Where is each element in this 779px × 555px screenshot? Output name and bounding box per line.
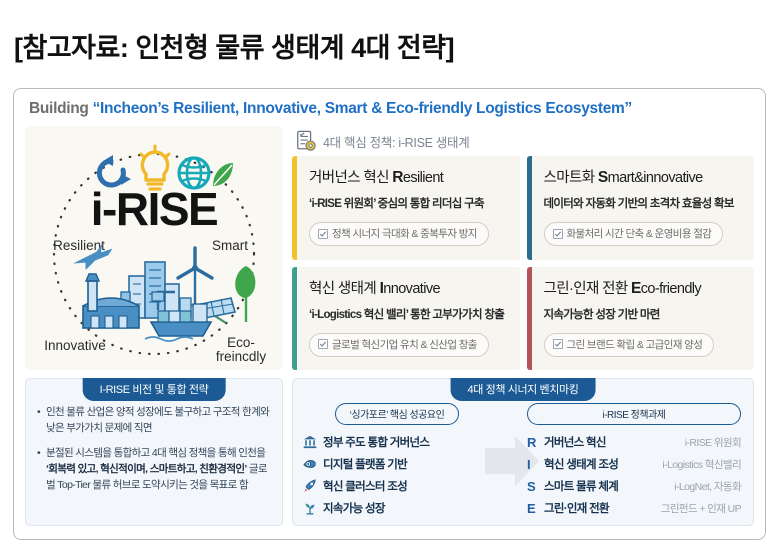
vision-bullet-emphasis: ‘회복력 있고, 혁신적이며, 스마트하고, 친환경적인’ [46, 463, 247, 475]
policy-card-title: 스마트화 Smart&innovative [544, 166, 745, 187]
benchmark-left-item: 혁신 클러스터 조성 [303, 475, 491, 497]
policy-card-badge: 그린 브랜드 확립 & 고급인재 양성 [544, 333, 715, 357]
policy-card-initial: E [631, 280, 641, 297]
benchmark-right-label: 혁신 생태계 조성 [544, 456, 618, 472]
benchmark-left-item: 지속가능 성장 [303, 497, 491, 519]
benchmark-right-note: i-Logistics 혁신밸리 [662, 457, 741, 472]
policy-card-ecofriendly[interactable]: 그린·인재 전환 Eco-friendly 지속가능한 성장 기반 마련 그린 … [527, 267, 755, 371]
headline-prefix: Building [29, 100, 93, 117]
benchmark-right-item: S 스마트 물류 체계 i-LogNet, 자동화 [527, 475, 741, 497]
checkbox-icon [318, 339, 328, 349]
benchmark-right-label: 거버넌스 혁신 [544, 434, 606, 450]
policy-card-subtitle: 지속가능한 성장 기반 마련 [544, 306, 745, 322]
irise-infographic: i-RISE Resilient Smart Innovative Eco- f… [25, 126, 283, 370]
bullet-dot: • [37, 445, 46, 494]
benchmark-left-item: 정부 주도 통합 거버넌스 [303, 431, 491, 453]
benchmark-right-column: i-RISE 정책과제 R 거버넌스 혁신 i-RISE 위원회 I 혁신 생태… [491, 403, 741, 525]
benchmark-right-note: i-RISE 위원회 [685, 435, 741, 450]
policy-card-smart[interactable]: 스마트화 Smart&innovative 데이터와 자동화 기반의 초격차 효… [527, 156, 755, 260]
policy-card-badge-text: 화물처리 시간 단축 & 운영비용 절감 [567, 226, 712, 241]
policy-card-badge: 정책 시너지 극대화 & 중복투자 방지 [309, 222, 489, 246]
vision-bullet-text: 인천 물류 산업은 양적 성장에도 불구하고 구조적 한계와 낮은 부가가치 문… [46, 404, 272, 437]
benchmark-right-note: 그린펀드 + 인재 UP [661, 501, 741, 516]
benchmark-panel: 4대 정책 시너지 벤치마킹 ‘싱가포르’ 핵심 성공요인 [292, 378, 754, 526]
policy-card-title: 거버넌스 혁신 Resilient [309, 166, 510, 187]
refresh-cycle-icon [99, 155, 131, 185]
document-gear-icon [295, 130, 317, 152]
checkbox-icon [318, 229, 328, 239]
policy-card-badge: 글로벌 혁신기업 유치 & 신산업 창출 [309, 333, 489, 357]
benchmark-right-label: 스마트 물류 체계 [544, 478, 618, 494]
benchmark-right-item: R 거버넌스 혁신 i-RISE 위원회 [527, 431, 741, 453]
benchmark-left-item: 디지털 플랫폼 기반 [303, 453, 491, 475]
policy-card-subtitle: ‘i-RISE 위원회’ 중심의 통합 리더십 구축 [309, 195, 510, 211]
vision-panel-header: I-RISE 비전 및 통합 전략 [83, 378, 226, 401]
upper-region: i-RISE Resilient Smart Innovative Eco- f… [25, 126, 754, 370]
bullet-dot: • [37, 404, 46, 437]
policy-area: 4대 핵심 정책: i-RISE 생태계 거버넌스 혁신 Resilient ‘… [292, 126, 754, 370]
policy-card-subtitle: 데이터와 자동화 기반의 초격차 효율성 확보 [544, 195, 745, 211]
policy-card-title: 그린·인재 전환 Eco-friendly [544, 277, 745, 298]
irise-logo-text: i-RISE [91, 183, 217, 235]
policy-section-header: 4대 핵심 정책: i-RISE 생태계 [292, 126, 754, 156]
benchmark-left-caption: ‘싱가포르’ 핵심 성공요인 [335, 403, 460, 425]
headline: Building “Incheon’s Resilient, Innovativ… [29, 100, 754, 118]
policy-card-badge-text: 글로벌 혁신기업 유치 & 신산업 창출 [332, 337, 477, 352]
policy-section-title: 4대 핵심 정책: i-RISE 생태계 [323, 132, 469, 151]
label-ecofriendly-1: Eco- [227, 335, 255, 350]
benchmark-right-caption: i-RISE 정책과제 [527, 403, 741, 425]
benchmark-body: ‘싱가포르’ 핵심 성공요인 정부 주도 통합 거버넌스 [293, 396, 753, 525]
label-innovative: Innovative [44, 338, 106, 353]
label-ecofriendly-2: freincdly [216, 349, 267, 364]
policy-card-initial: S [598, 169, 608, 186]
benchmark-right-item: E 그린·인재 전환 그린펀드 + 인재 UP [527, 497, 741, 519]
policy-card-badge-text: 그린 브랜드 확립 & 고급인재 양성 [567, 337, 703, 352]
benchmark-letter: S [527, 479, 544, 494]
policy-card-resilient[interactable]: 거버넌스 혁신 Resilient ‘i-RISE 위원회’ 중심의 통합 리더… [292, 156, 520, 260]
vision-bullet-text: 분절된 시스템을 통합하고 4대 핵심 정책을 통해 인천을 ‘회복력 있고, … [46, 445, 272, 494]
rocket-icon [303, 479, 323, 493]
infographic-panel: i-RISE Resilient Smart Innovative Eco- f… [25, 126, 283, 370]
label-smart: Smart [212, 238, 248, 253]
policy-card-title: 혁신 생태계 Innovative [309, 277, 510, 298]
page-title: [참고자료: 인천형 물류 생태계 4대 전략] [0, 0, 779, 65]
benchmark-right-label: 그린·인재 전환 [544, 500, 609, 516]
benchmark-letter: R [527, 435, 544, 450]
vision-bullet: • 인천 물류 산업은 양적 성장에도 불구하고 구조적 한계와 낮은 부가가치… [37, 404, 272, 437]
tree-icon [235, 266, 255, 322]
benchmark-right-note: i-LogNet, 자동화 [674, 479, 741, 494]
bank-building-icon [303, 435, 323, 449]
lower-region: I-RISE 비전 및 통합 전략 • 인천 물류 산업은 양적 성장에도 불구… [25, 378, 754, 526]
vision-bullet: • 분절된 시스템을 통합하고 4대 핵심 정책을 통해 인천을 ‘회복력 있고… [37, 445, 272, 494]
benchmark-letter: E [527, 501, 544, 516]
digital-platform-icon [303, 457, 323, 471]
benchmark-left-label: 지속가능 성장 [323, 500, 385, 516]
policy-card-innovative[interactable]: 혁신 생태계 Innovative ‘i-Logistics 혁신 밸리’ 통한… [292, 267, 520, 371]
benchmark-left-column: ‘싱가포르’ 핵심 성공요인 정부 주도 통합 거버넌스 [303, 403, 491, 525]
policy-card-subtitle: ‘i-Logistics 혁신 밸리’ 통한 고부가가치 창출 [309, 306, 510, 322]
checkbox-icon [553, 339, 563, 349]
policy-card-initial: R [392, 169, 403, 186]
growth-plant-icon [303, 501, 323, 515]
headline-quoted: “Incheon’s Resilient, Innovative, Smart … [93, 100, 632, 117]
benchmark-left-label: 혁신 클러스터 조성 [323, 478, 407, 494]
checkbox-icon [553, 229, 563, 239]
vision-panel: I-RISE 비전 및 통합 전략 • 인천 물류 산업은 양적 성장에도 불구… [25, 378, 283, 526]
benchmark-right-rows: R 거버넌스 혁신 i-RISE 위원회 I 혁신 생태계 조성 i-Logis… [527, 431, 741, 519]
main-card-frame: Building “Incheon’s Resilient, Innovativ… [13, 88, 766, 540]
benchmark-left-label: 디지털 플랫폼 기반 [323, 456, 407, 472]
benchmark-left-label: 정부 주도 통합 거버넌스 [323, 434, 429, 450]
benchmark-right-item: I 혁신 생태계 조성 i-Logistics 혁신밸리 [527, 453, 741, 475]
vision-panel-body: • 인천 물류 산업은 양적 성장에도 불구하고 구조적 한계와 낮은 부가가치… [26, 396, 282, 493]
policy-card-badge: 화물처리 시간 단축 & 운영비용 절감 [544, 222, 724, 246]
benchmark-letter: I [527, 457, 544, 472]
policy-card-badge-text: 정책 시너지 극대화 & 중복투자 방지 [332, 226, 477, 241]
policy-cards: 거버넌스 혁신 Resilient ‘i-RISE 위원회’ 중심의 통합 리더… [292, 156, 754, 370]
